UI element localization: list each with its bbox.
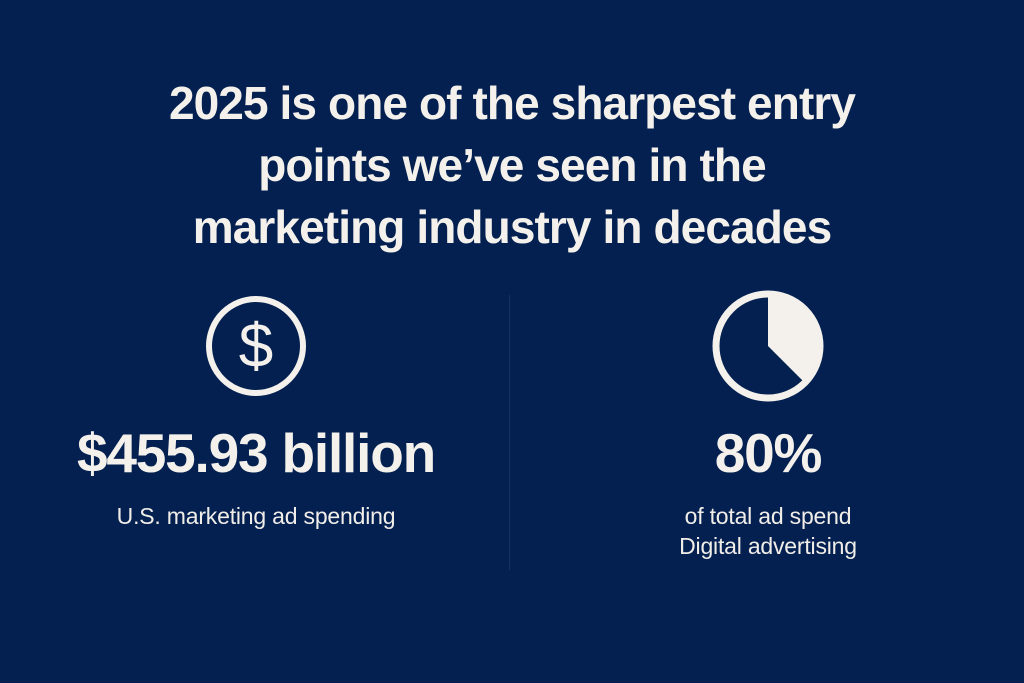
dollar-circle-icon: $ xyxy=(202,280,310,412)
headline-line-3: marketing industry in decades xyxy=(0,196,1024,258)
stat-digital-share: 80% of total ad spend Digital advertisin… xyxy=(512,280,1024,561)
page-title: 2025 is one of the sharpest entry points… xyxy=(0,72,1024,258)
headline-line-2: points we’ve seen in the xyxy=(0,134,1024,196)
stat-ad-spending: $ $455.93 billion U.S. marketing ad spen… xyxy=(0,280,512,531)
stats-row: $ $455.93 billion U.S. marketing ad spen… xyxy=(0,280,1024,561)
infographic-canvas: 2025 is one of the sharpest entry points… xyxy=(0,0,1024,683)
stat-value-digital-share: 80% xyxy=(715,426,821,481)
stat-caption-ad-spending: U.S. marketing ad spending xyxy=(117,501,396,531)
pie-chart-icon xyxy=(707,280,829,412)
svg-text:$: $ xyxy=(239,312,273,381)
stat-caption-line: Digital advertising xyxy=(679,531,857,561)
stat-caption-line: U.S. marketing ad spending xyxy=(117,501,396,531)
headline-line-1: 2025 is one of the sharpest entry xyxy=(0,72,1024,134)
stat-caption-line: of total ad spend xyxy=(679,501,857,531)
stat-caption-digital-share: of total ad spend Digital advertising xyxy=(679,501,857,561)
stat-value-ad-spending: $455.93 billion xyxy=(77,426,435,481)
